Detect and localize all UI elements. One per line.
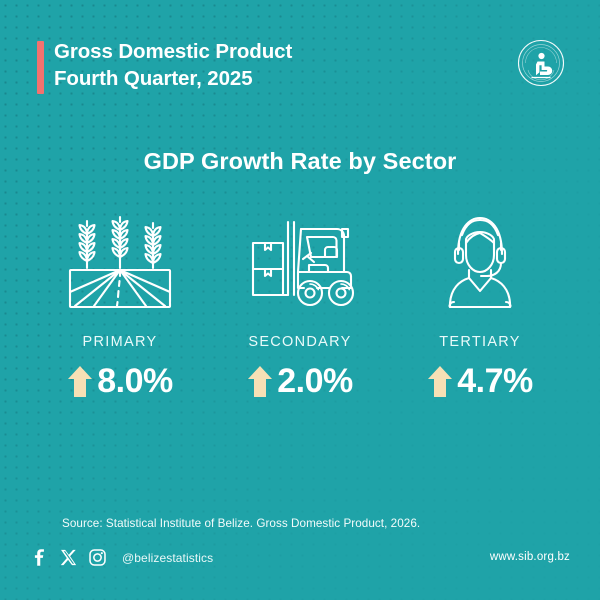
title-block: Gross Domestic Product Fourth Quarter, 2…: [54, 38, 292, 92]
x-twitter-icon[interactable]: [60, 549, 77, 566]
sector-group: PRIMARY 8.0%: [30, 210, 570, 425]
social-links: @belizestatistics: [31, 548, 213, 567]
sector-value-primary: 8.0%: [97, 364, 173, 398]
sector-value-row-primary: 8.0%: [67, 364, 173, 398]
header: Gross Domestic Product Fourth Quarter, 2…: [0, 0, 600, 118]
infographic-poster: Gross Domestic Product Fourth Quarter, 2…: [0, 0, 600, 600]
sector-value-secondary: 2.0%: [277, 364, 353, 398]
sector-value-row-secondary: 2.0%: [247, 364, 353, 398]
header-title-line2: Fourth Quarter, 2025: [54, 65, 292, 92]
page-title: GDP Growth Rate by Sector: [0, 148, 600, 175]
arrow-up-icon: [247, 365, 273, 398]
sector-secondary: SECONDARY 2.0%: [214, 210, 386, 398]
statistical-institute-of-belize-logo: [517, 39, 565, 87]
forklift-icon: [241, 210, 359, 315]
header-title-line1: Gross Domestic Product: [54, 38, 292, 65]
facebook-icon[interactable]: [31, 548, 48, 567]
instagram-icon[interactable]: [89, 549, 106, 566]
sector-label-tertiary: TERTIARY: [439, 334, 521, 350]
website-url[interactable]: www.sib.org.bz: [490, 551, 570, 563]
service-agent-icon: [421, 210, 539, 315]
social-handle: @belizestatistics: [122, 551, 213, 565]
sector-label-secondary: SECONDARY: [248, 334, 351, 350]
sector-label-primary: PRIMARY: [83, 334, 158, 350]
sector-value-tertiary: 4.7%: [457, 364, 533, 398]
sector-primary: PRIMARY 8.0%: [34, 210, 206, 398]
accent-bar: [37, 41, 44, 94]
arrow-up-icon: [427, 365, 453, 398]
sector-tertiary: TERTIARY 4.7%: [394, 210, 566, 398]
arrow-up-icon: [67, 365, 93, 398]
wheat-field-icon: [61, 210, 179, 315]
sector-value-row-tertiary: 4.7%: [427, 364, 533, 398]
source-note: Source: Statistical Institute of Belize.…: [62, 517, 420, 530]
